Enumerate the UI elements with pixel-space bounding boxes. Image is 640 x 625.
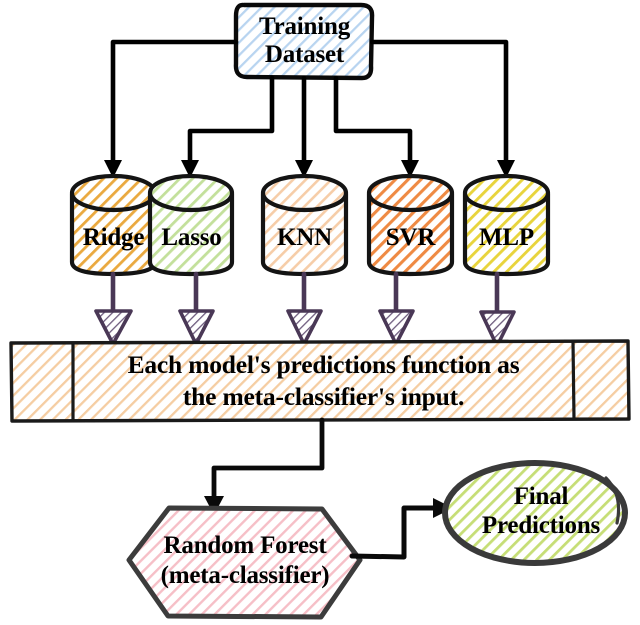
arrowhead-knn <box>288 311 321 344</box>
final-predictions-shape <box>445 463 625 563</box>
connector-dataset-lasso <box>190 78 272 165</box>
meta-input-bar-node[interactable] <box>11 341 629 421</box>
arrowhead-svr <box>380 311 413 344</box>
training-dataset-shape <box>236 5 372 78</box>
training-dataset-node[interactable] <box>236 5 372 78</box>
base-model-cylinder-svr[interactable] <box>369 176 452 274</box>
connector-dataset-mlp <box>372 42 506 165</box>
base-model-cylinder-lasso[interactable] <box>150 176 232 274</box>
meta-input-bar-divider-right <box>573 341 574 419</box>
connector-dataset-svr <box>336 78 410 165</box>
connector-random-forest-output <box>352 508 436 557</box>
arrowhead-ridge <box>96 311 131 344</box>
connector-dataset-ridge <box>113 42 236 165</box>
svr-cylinder-top <box>369 176 452 210</box>
base-model-cylinder-knn[interactable] <box>263 176 346 274</box>
meta-input-bar-shape <box>11 341 629 421</box>
connector-bar-random-forest <box>214 420 322 500</box>
base-model-cylinder-ridge[interactable] <box>72 176 155 274</box>
mlp-cylinder-top <box>465 176 548 210</box>
diagram-svg <box>0 0 640 625</box>
meta-classifier-shape <box>129 508 360 617</box>
lasso-cylinder-top <box>150 176 232 210</box>
bar-to-meta-connector <box>214 420 322 500</box>
arrowhead-lasso <box>180 311 213 344</box>
base-model-cylinder-mlp[interactable] <box>465 176 548 274</box>
ridge-cylinder-top <box>72 176 155 210</box>
diagram-canvas: Training Dataset Ridge Lasso KNN SVR MLP… <box>0 0 640 625</box>
final-predictions-node[interactable] <box>445 463 625 563</box>
meta-classifier-node[interactable] <box>129 508 360 617</box>
knn-cylinder-top <box>263 176 346 210</box>
meta-to-output-connector <box>352 508 436 557</box>
